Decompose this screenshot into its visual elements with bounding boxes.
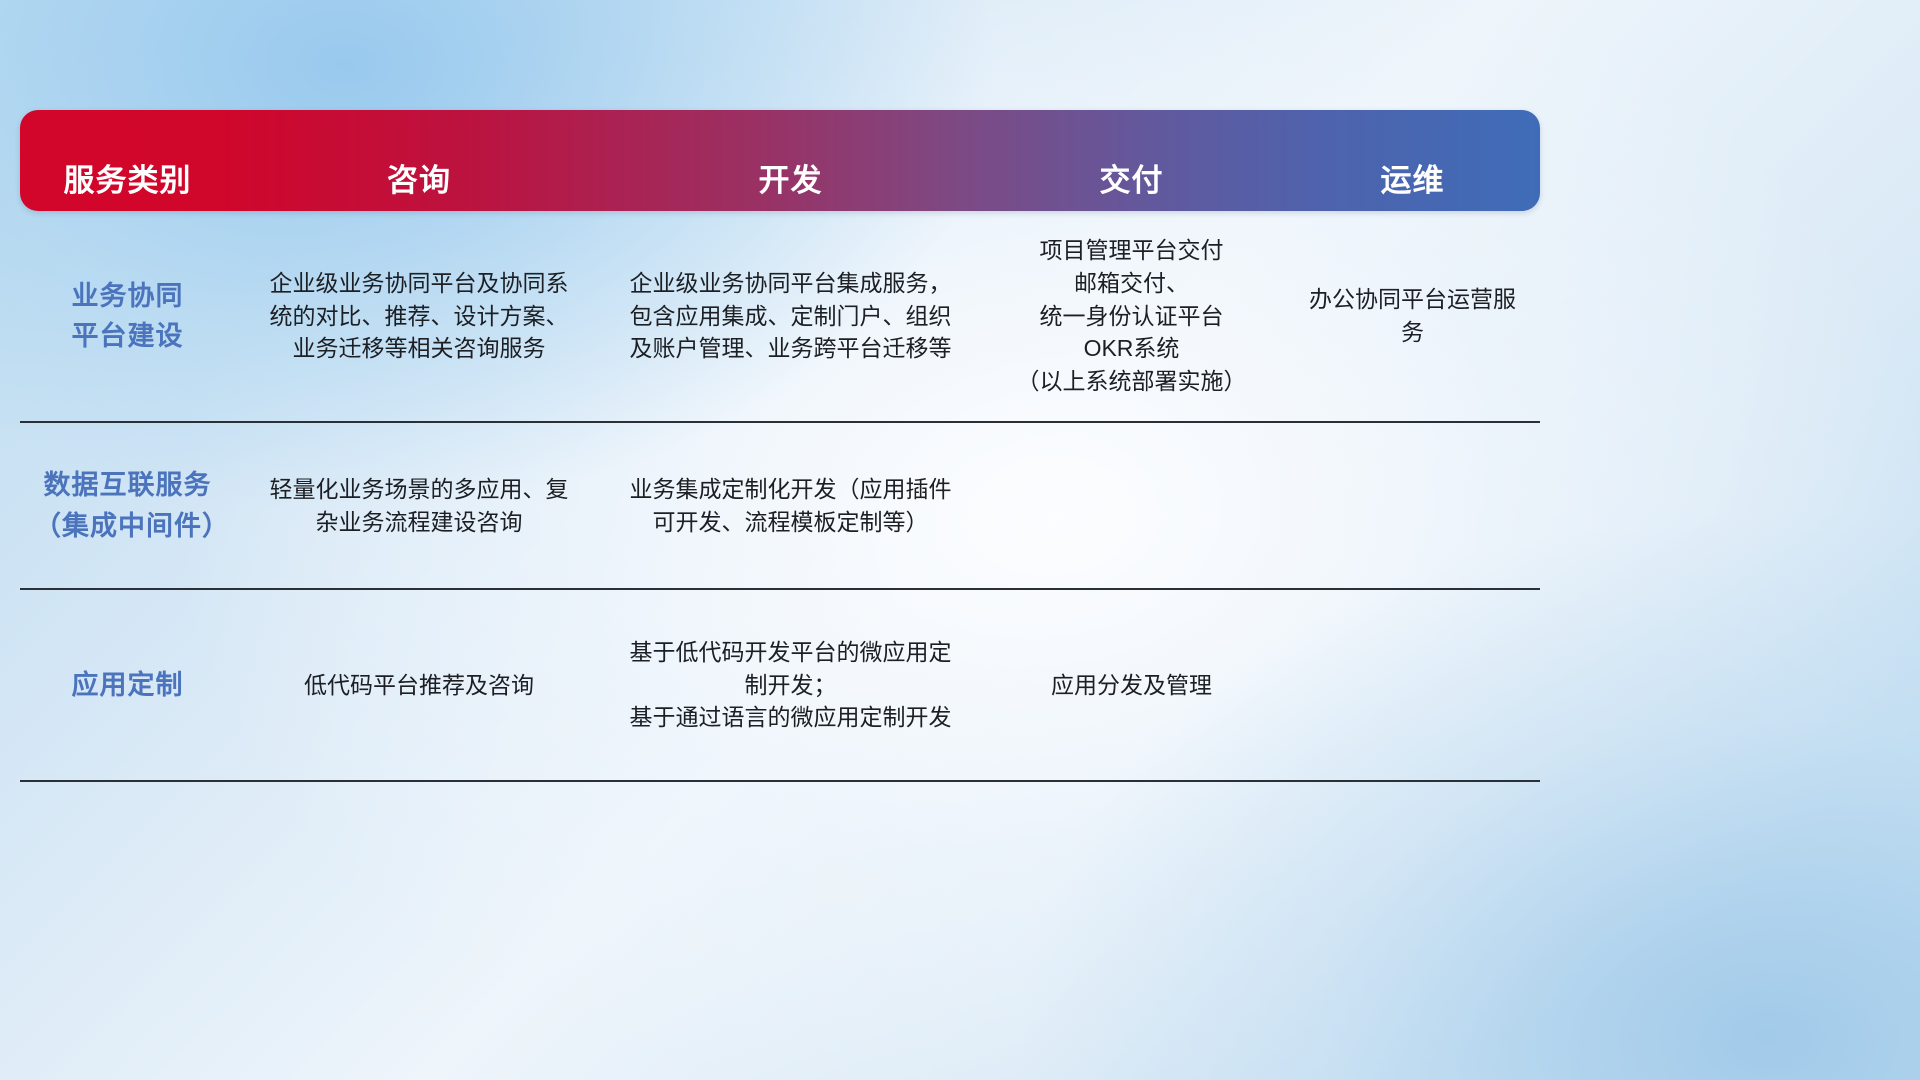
cell-development: 基于低代码开发平台的微应用定 制开发； 基于通过语言的微应用定制开发 bbox=[603, 590, 978, 780]
table-header-cell-service-category: 服务类别 bbox=[20, 110, 235, 211]
cell-consulting: 企业级业务协同平台及协同系 统的对比、推荐、设计方案、 业务迁移等相关咨询服务 bbox=[235, 211, 603, 421]
cell-delivery: 应用分发及管理 bbox=[978, 590, 1285, 780]
cell-consulting: 轻量化业务场景的多应用、复 杂业务流程建设咨询 bbox=[235, 423, 603, 588]
cell-delivery bbox=[978, 423, 1285, 588]
cell-development: 业务集成定制化开发（应用插件 可开发、流程模板定制等） bbox=[603, 423, 978, 588]
cell-consulting: 低代码平台推荐及咨询 bbox=[235, 590, 603, 780]
cell-development: 企业级业务协同平台集成服务， 包含应用集成、定制门户、组织 及账户管理、业务跨平… bbox=[603, 211, 978, 421]
cell-operations bbox=[1285, 590, 1540, 780]
service-category-table: 服务类别 咨询 开发 交付 运维 业务协同 平台建设 企业级业务协同平台及协同系… bbox=[20, 110, 1540, 782]
cell-category: 数据互联服务 （集成中间件） bbox=[20, 423, 235, 588]
table-header-row: 服务类别 咨询 开发 交付 运维 bbox=[20, 110, 1540, 211]
cell-operations bbox=[1285, 423, 1540, 588]
cell-category: 应用定制 bbox=[20, 590, 235, 780]
cell-category: 业务协同 平台建设 bbox=[20, 211, 235, 421]
table-row: 数据互联服务 （集成中间件） 轻量化业务场景的多应用、复 杂业务流程建设咨询 业… bbox=[20, 421, 1540, 588]
table-bottom-rule bbox=[20, 780, 1540, 782]
table-header-cell-delivery: 交付 bbox=[978, 110, 1285, 211]
table-header-cell-consulting: 咨询 bbox=[235, 110, 603, 211]
cell-delivery: 项目管理平台交付 邮箱交付、 统一身份认证平台 OKR系统 （以上系统部署实施） bbox=[978, 211, 1285, 421]
cell-operations: 办公协同平台运营服务 bbox=[1285, 211, 1540, 421]
table-body: 业务协同 平台建设 企业级业务协同平台及协同系 统的对比、推荐、设计方案、 业务… bbox=[20, 211, 1540, 782]
slide-canvas: 服务类别 咨询 开发 交付 运维 业务协同 平台建设 企业级业务协同平台及协同系… bbox=[0, 0, 1920, 1080]
table-header-cell-development: 开发 bbox=[603, 110, 978, 211]
table-header-cell-operations: 运维 bbox=[1285, 110, 1540, 211]
table-row: 业务协同 平台建设 企业级业务协同平台及协同系 统的对比、推荐、设计方案、 业务… bbox=[20, 211, 1540, 421]
table-row: 应用定制 低代码平台推荐及咨询 基于低代码开发平台的微应用定 制开发； 基于通过… bbox=[20, 588, 1540, 780]
